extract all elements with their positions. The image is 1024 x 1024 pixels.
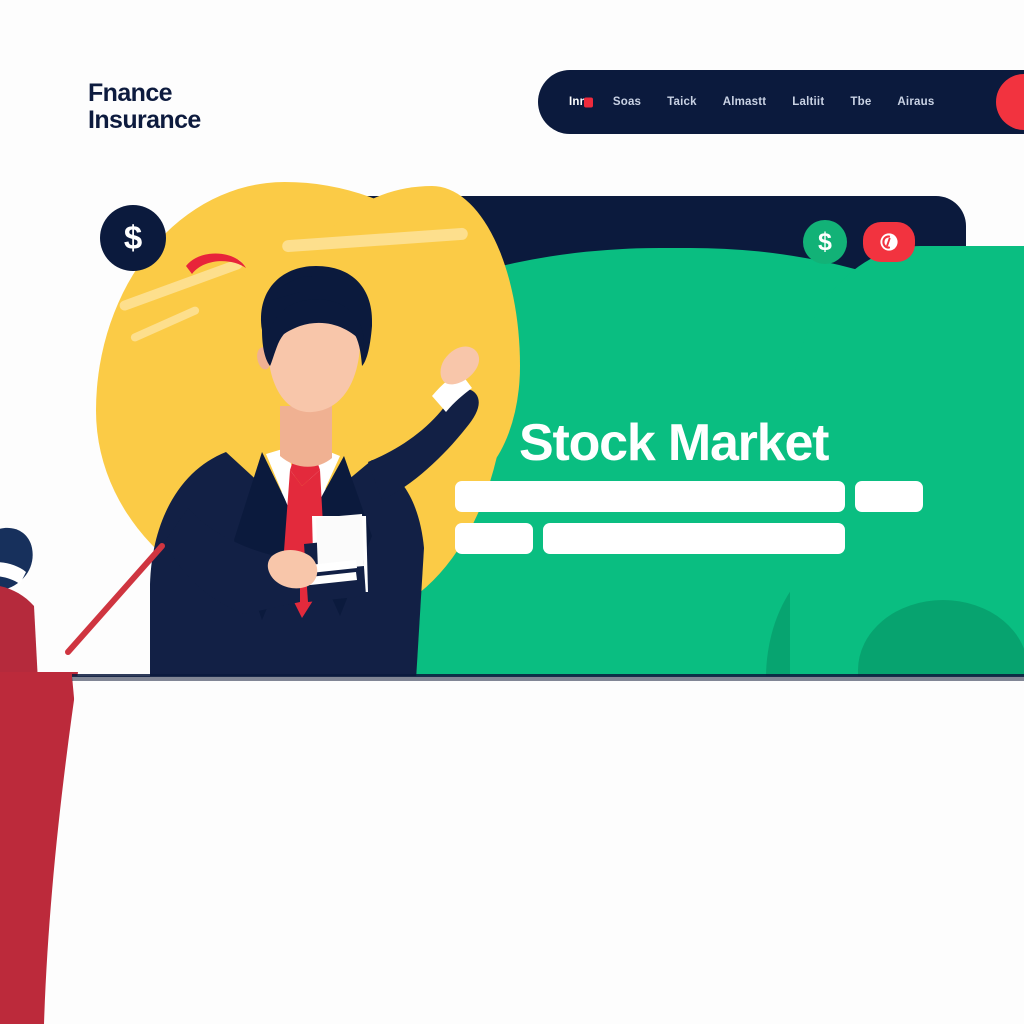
red-crescent-accent [184, 252, 248, 292]
podium-panel [0, 672, 1024, 1024]
placeholder-bar-3[interactable] [455, 523, 533, 554]
pointer-stick-icon [50, 540, 180, 670]
nav-item-taick[interactable]: Taick [654, 90, 710, 114]
podium-top-edge [72, 674, 1024, 677]
nav-cta-button[interactable] [996, 74, 1024, 130]
nav-item-airaus[interactable]: Airaus [884, 90, 947, 114]
placeholder-row-2 [455, 523, 925, 554]
brand-logo[interactable]: Fnance Insurance [88, 80, 201, 134]
dollar-circle-icon[interactable]: $ [803, 220, 847, 264]
placeholder-row-1 [455, 481, 925, 512]
hero-title: Stock Market [519, 413, 828, 473]
nav-item-soas[interactable]: Soas [600, 90, 654, 114]
coin-swirl-glyph [877, 230, 901, 254]
dollar-badge-icon: $ [100, 205, 166, 271]
coin-swirl-icon[interactable] [863, 222, 915, 262]
app-root: Fnance Insurance Inn Soas Taick Almastt … [0, 0, 1024, 1024]
nav-item-almastt[interactable]: Almastt [710, 90, 780, 114]
hero-card-actions: $ [803, 220, 915, 264]
hero-placeholder-bars [455, 481, 925, 565]
placeholder-bar-2[interactable] [855, 481, 923, 512]
brand-line-one: Fnance [88, 80, 201, 107]
brand-line-two: Insurance [88, 107, 201, 134]
nav-item-tbe[interactable]: Tbe [837, 90, 884, 114]
nav-item-laltiit[interactable]: Laltiit [779, 90, 837, 114]
primary-navigation: Inn Soas Taick Almastt Laltiit Tbe Airau… [538, 70, 1024, 134]
placeholder-bar-4[interactable] [543, 523, 845, 554]
placeholder-bar-1[interactable] [455, 481, 845, 512]
nav-item-list: Inn Soas Taick Almastt Laltiit Tbe Airau… [556, 90, 996, 114]
nav-item-inn[interactable]: Inn [556, 90, 600, 114]
